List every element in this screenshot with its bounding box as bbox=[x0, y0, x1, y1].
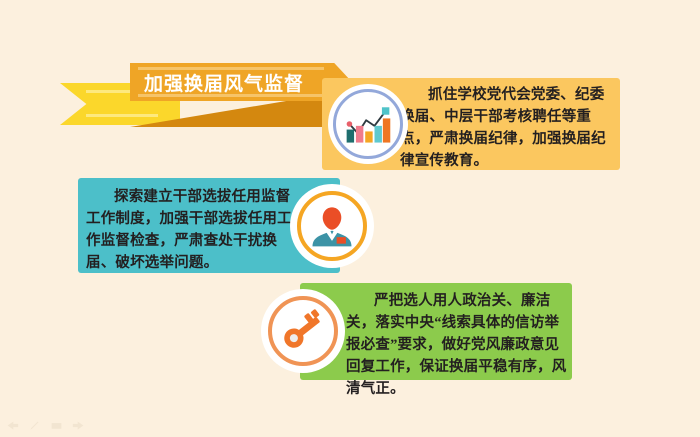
card-text: 探索建立干部选拔任用监督工作制度，加强干部选拔任用工作监督检查，严肃查处干扰换届… bbox=[86, 186, 300, 274]
faint-toolbar bbox=[6, 419, 85, 432]
card-text: 抓住学校党代会党委、纪委换届、中层干部考核聘任等重点，严肃换届纪律，加强换届纪律… bbox=[400, 84, 614, 172]
card-text: 严把选人用人政治关、廉洁关，落实中央“线索具体的信访举报必查”要求，做好党风廉政… bbox=[346, 290, 568, 400]
key-icon bbox=[276, 304, 330, 358]
person-icon bbox=[306, 200, 358, 252]
rectangle-icon[interactable] bbox=[50, 419, 63, 432]
card-badge bbox=[288, 182, 376, 270]
pen-icon[interactable] bbox=[28, 419, 41, 432]
card-badge bbox=[324, 80, 412, 168]
bar-chart-icon bbox=[342, 98, 394, 150]
title-ribbon: 加强换届风气监督 bbox=[60, 55, 360, 125]
left-arrow-icon[interactable] bbox=[6, 419, 19, 432]
ribbon-banner: 加强换届风气监督 bbox=[130, 63, 352, 101]
ribbon-tail-dash bbox=[86, 114, 158, 117]
card-badge bbox=[258, 286, 348, 376]
banner-title: 加强换届风气监督 bbox=[130, 69, 304, 96]
infographic-canvas: 加强换届风气监督 抓住学校党代会党委、纪委换届、中层干部考核聘任等重点，严肃换届… bbox=[0, 0, 700, 437]
right-arrow-icon[interactable] bbox=[72, 419, 85, 432]
